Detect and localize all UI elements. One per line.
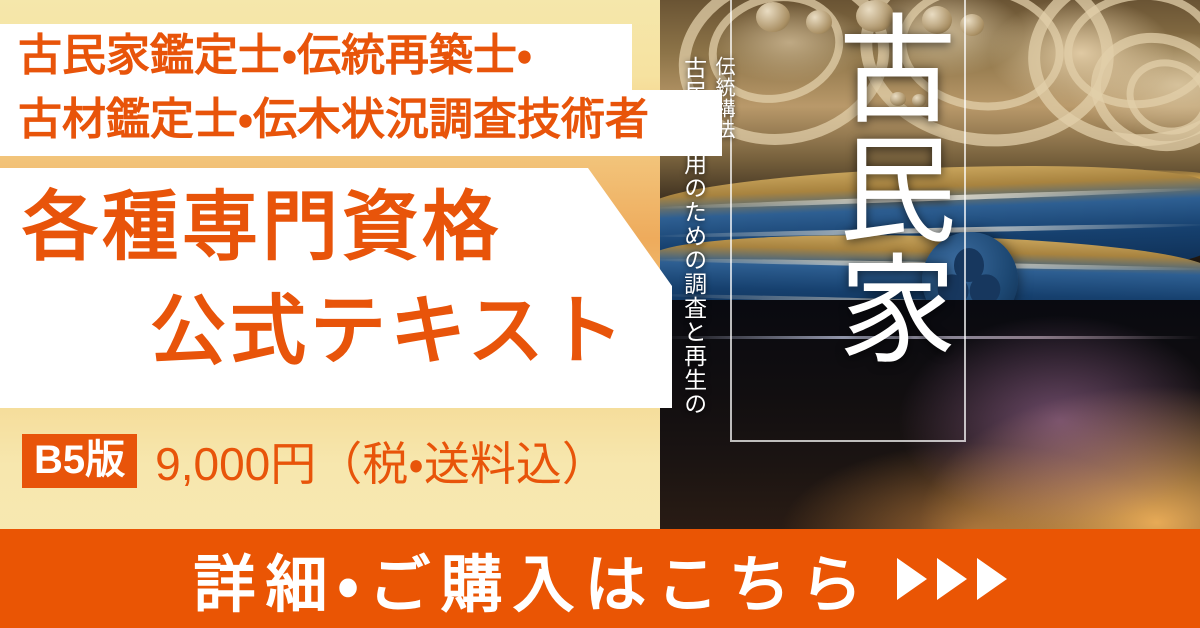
promo-banner: 伝統構法 古民家活用のための調査と再生の 古民家 古民家鑑定士・伝統再築士・ 古… xyxy=(0,0,1200,628)
play-triangle-icon xyxy=(897,558,927,600)
cta-label: 詳細・ご購入はこちら xyxy=(193,534,872,624)
qualifications-line-1: 古民家鑑定士・伝統再築士・ xyxy=(0,24,722,88)
headline-line-2: 公式テキスト xyxy=(0,266,680,370)
format-badge: B5版 xyxy=(22,434,137,488)
headline-line-1: 各種専門資格 xyxy=(0,168,680,266)
cover-title-text: 古民家 xyxy=(734,8,958,368)
price-row: B5版 9,000円（税・送料込） xyxy=(22,430,608,492)
play-triangle-icon xyxy=(937,558,967,600)
play-triangle-icon xyxy=(977,558,1007,600)
headline-panel: 各種専門資格 公式テキスト xyxy=(0,168,680,408)
cta-arrows xyxy=(897,558,1007,600)
qualifications-panel: 古民家鑑定士・伝統再築士・ 古材鑑定士・伝木状況調査技術者 xyxy=(0,24,722,156)
book-cover-image: 伝統構法 古民家活用のための調査と再生の 古民家 xyxy=(660,0,1200,532)
price-text: 9,000円（税・送料込） xyxy=(155,428,608,494)
qualifications-line-2: 古材鑑定士・伝木状況調査技術者 xyxy=(0,88,722,152)
cta-bar[interactable]: 詳細・ご購入はこちら xyxy=(0,529,1200,628)
